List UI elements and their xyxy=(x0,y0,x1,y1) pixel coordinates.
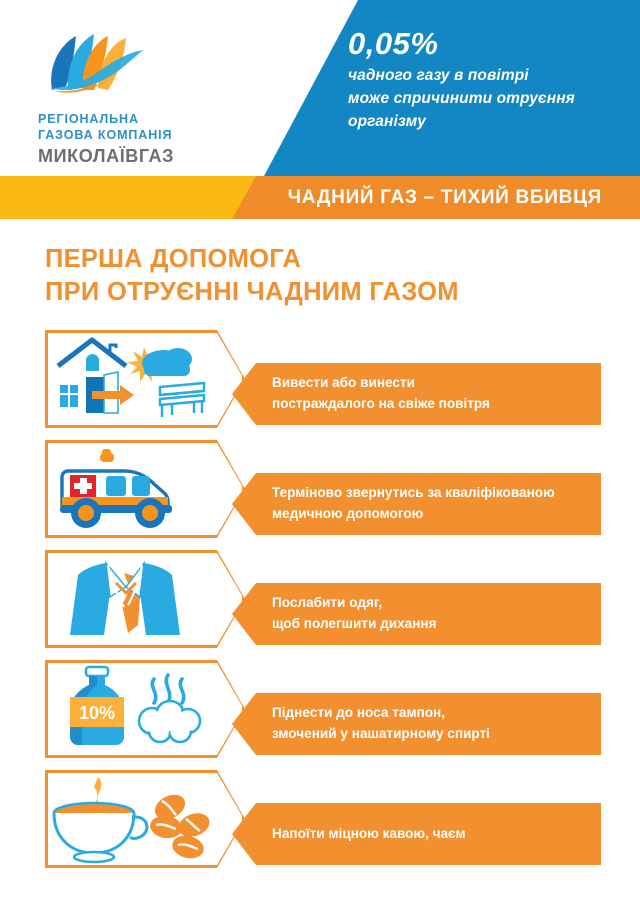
step-text-4-line-1: Піднести до носа тампон, xyxy=(272,702,602,723)
header: РЕГІОНАЛЬНА ГАЗОВА КОМПАНІЯ МИКОЛАЇВГАЗ … xyxy=(0,0,640,176)
header-percent: 0,05% xyxy=(348,24,628,64)
poster-root: РЕГІОНАЛЬНА ГАЗОВА КОМПАНІЯ МИКОЛАЇВГАЗ … xyxy=(0,0,640,908)
header-line-1: чадного газу в повітрі xyxy=(348,64,628,87)
step-row-1: Вивести або винести пострaждалого на сві… xyxy=(0,330,640,440)
header-line-2: може спричинити отруєння xyxy=(348,87,628,110)
ammonia-bottle-icon: 10% xyxy=(48,663,228,755)
header-message: 0,05% чадного газу в повітрі може спричи… xyxy=(348,24,628,133)
step-text-3-line-1: Послабити одяг, xyxy=(272,592,602,613)
slogan-banner: ЧАДНИЙ ГАЗ – ТИХИЙ ВБИВЦЯ xyxy=(0,176,640,219)
logo-line-1: РЕГІОНАЛЬНА xyxy=(38,111,238,127)
page-title-line-2: ПРИ ОТРУЄННІ ЧАДНИМ ГАЗОМ xyxy=(45,276,605,309)
step-text-5-line-1: Напоїти міцною кавою, чаєм xyxy=(272,823,602,844)
coffee-cup-beans-icon xyxy=(48,773,228,865)
step-text-2: Терміново звернутись за кваліфікованою м… xyxy=(272,482,602,524)
house-sun-cloud-bench-icon xyxy=(48,333,228,425)
step-text-5: Напоїти міцною кавою, чаєм xyxy=(272,823,602,844)
header-line-3: організму xyxy=(348,110,628,133)
jacket-tie-icon xyxy=(48,553,228,645)
step-text-3-line-2: щоб полегшити дихання xyxy=(272,613,602,634)
step-text-1: Вивести або винести пострaждалого на сві… xyxy=(272,372,602,414)
logo-line-2: ГАЗОВА КОМПАНІЯ xyxy=(38,127,238,143)
step-row-3: Послабити одяг, щоб полегшити дихання xyxy=(0,550,640,660)
step-row-4: 10% xyxy=(0,660,640,770)
logo-line-3: МИКОЛАЇВГАЗ xyxy=(38,144,238,168)
step-text-4: Піднести до носа тампон, змочений у наша… xyxy=(272,702,602,744)
svg-text:10%: 10% xyxy=(79,703,115,723)
step-text-1-line-2: пострaждалого на свіже повітря xyxy=(272,393,602,414)
page-title: ПЕРША ДОПОМОГА ПРИ ОТРУЄННІ ЧАДНИМ ГАЗОМ xyxy=(45,243,605,309)
flame-leaf-logo-icon xyxy=(42,28,146,100)
step-row-2: Терміново звернутись за кваліфікованою м… xyxy=(0,440,640,550)
company-logo: РЕГІОНАЛЬНА ГАЗОВА КОМПАНІЯ МИКОЛАЇВГАЗ xyxy=(38,28,238,168)
ambulance-icon xyxy=(48,443,228,535)
step-text-1-line-1: Вивести або винести xyxy=(272,372,602,393)
step-text-2-line-2: медичною допомогою xyxy=(272,503,602,524)
banner-text: ЧАДНИЙ ГАЗ – ТИХИЙ ВБИВЦЯ xyxy=(288,176,602,219)
step-row-5: Напоїти міцною кавою, чаєм xyxy=(0,770,640,880)
step-text-2-line-1: Терміново звернутись за кваліфікованою xyxy=(272,482,602,503)
step-text-4-line-2: змочений у нашатирному спирті xyxy=(272,723,602,744)
step-text-3: Послабити одяг, щоб полегшити дихання xyxy=(272,592,602,634)
page-title-line-1: ПЕРША ДОПОМОГА xyxy=(45,243,605,276)
steps-list: Вивести або винести пострaждалого на сві… xyxy=(0,330,640,880)
